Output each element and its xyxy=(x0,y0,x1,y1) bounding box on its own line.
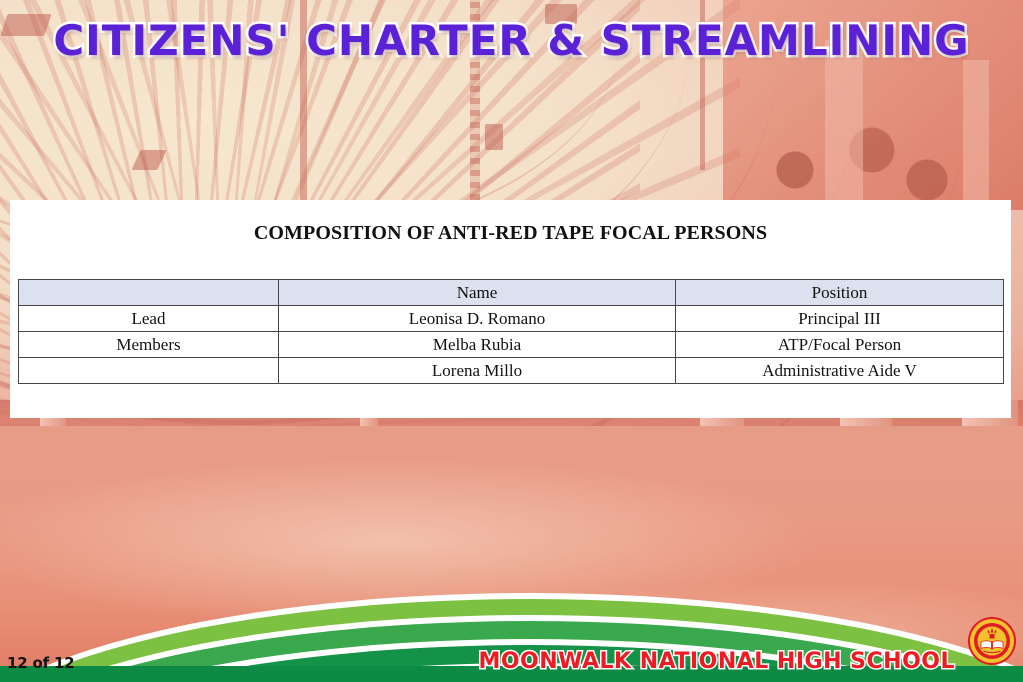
cell-position: ATP/Focal Person xyxy=(676,332,1004,358)
building-pillar xyxy=(825,40,863,210)
cell-role: Members xyxy=(19,332,279,358)
focal-persons-table: Name Position Lead Leonisa D. Romano Pri… xyxy=(18,279,1004,384)
column-header-role xyxy=(19,280,279,306)
column-header-position: Position xyxy=(676,280,1004,306)
table-row: Lorena Millo Administrative Aide V xyxy=(19,358,1004,384)
cell-name: Lorena Millo xyxy=(279,358,676,384)
table-row: Members Melba Rubia ATP/Focal Person xyxy=(19,332,1004,358)
slide-title: CITIZENS' CHARTER & STREAMLINING xyxy=(0,16,1023,65)
panel-title: COMPOSITION OF ANTI-RED TAPE FOCAL PERSO… xyxy=(10,222,1011,245)
table-header-row: Name Position xyxy=(19,280,1004,306)
roof-shadow-patch xyxy=(485,124,503,150)
building-pillar xyxy=(963,60,989,210)
column-header-name: Name xyxy=(279,280,676,306)
table-row: Lead Leonisa D. Romano Principal III xyxy=(19,306,1004,332)
content-panel: COMPOSITION OF ANTI-RED TAPE FOCAL PERSO… xyxy=(10,200,1011,418)
school-seal-icon xyxy=(967,616,1017,666)
cell-role xyxy=(19,358,279,384)
cell-name: Melba Rubia xyxy=(279,332,676,358)
page-number: 12 of 12 xyxy=(7,654,74,672)
school-name: MOONWALK NATIONAL HIGH SCHOOL xyxy=(478,649,955,674)
cell-position: Administrative Aide V xyxy=(676,358,1004,384)
cell-name: Leonisa D. Romano xyxy=(279,306,676,332)
footer-banner: 12 of 12 MOONWALK NATIONAL HIGH SCHOOL xyxy=(0,587,1023,682)
cell-position: Principal III xyxy=(676,306,1004,332)
slide: CITIZENS' CHARTER & STREAMLINING COMPOSI… xyxy=(0,0,1023,682)
cell-role: Lead xyxy=(19,306,279,332)
